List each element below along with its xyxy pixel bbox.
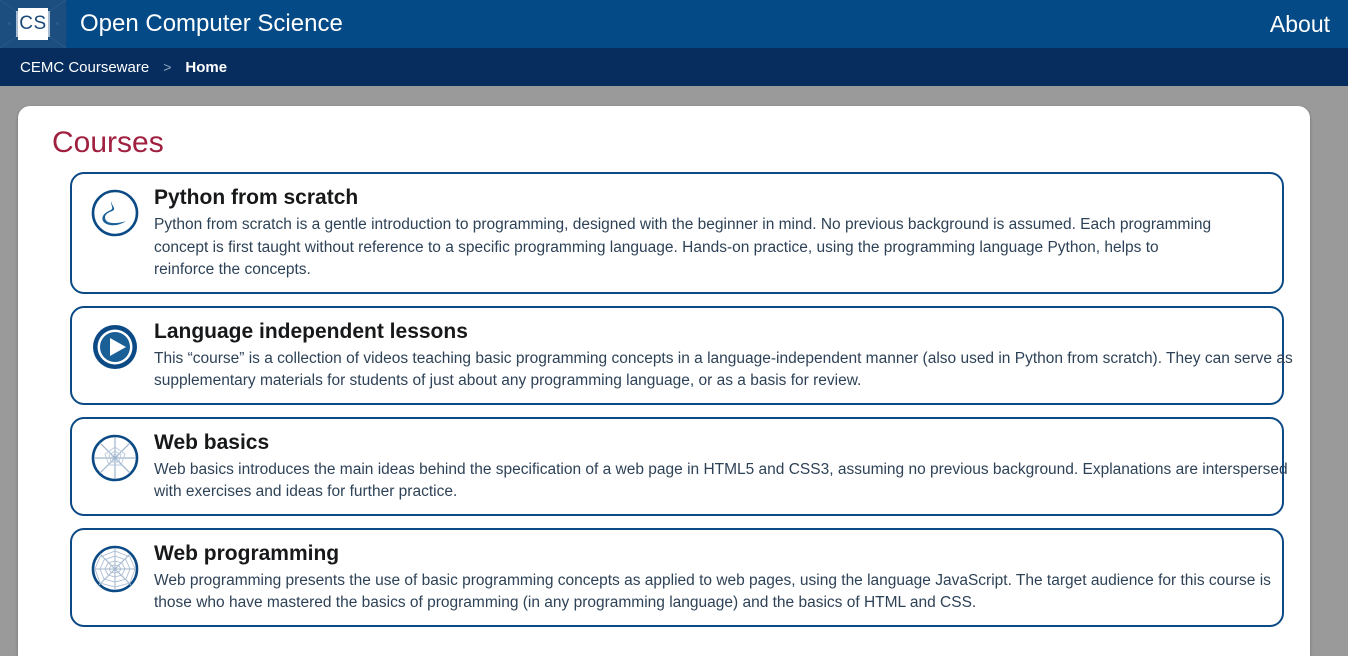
- top-navigation-bar: CS Open Computer Science About: [0, 0, 1348, 48]
- top-nav-links: About: [1270, 11, 1348, 38]
- breadcrumb-item-home: Home: [185, 59, 227, 76]
- spider-web-dense-icon: [90, 544, 140, 594]
- cs-monogram-logo[interactable]: CS: [0, 0, 66, 48]
- course-card-body: Web basics Web basics introduces the mai…: [154, 429, 1268, 504]
- course-description: Python from scratch is a gentle introduc…: [76, 214, 1216, 281]
- content-panel: Courses Python from scratch Python from …: [18, 106, 1310, 656]
- course-card-body: Python from scratch Python from scratch …: [154, 184, 1268, 282]
- course-title: Python from scratch: [154, 186, 1268, 210]
- logo-dot-right: [56, 22, 59, 25]
- course-card-python-from-scratch[interactable]: Python from scratch Python from scratch …: [70, 172, 1284, 294]
- page-background: Courses Python from scratch Python from …: [0, 86, 1348, 656]
- course-description: Web basics introduces the main ideas beh…: [154, 459, 1294, 504]
- breadcrumb: CEMC Courseware > Home: [0, 48, 1348, 86]
- course-title: Language independent lessons: [154, 320, 1268, 344]
- spider-web-icon: [90, 433, 140, 483]
- logo-plate: CS: [18, 8, 48, 40]
- breadcrumb-separator-icon: >: [163, 59, 171, 75]
- site-title: Open Computer Science: [80, 10, 343, 38]
- breadcrumb-item-cemc-courseware[interactable]: CEMC Courseware: [20, 59, 149, 76]
- logo-dot-left: [8, 22, 11, 25]
- course-card-web-basics[interactable]: Web basics Web basics introduces the mai…: [70, 417, 1284, 516]
- course-title: Web basics: [154, 431, 1268, 455]
- course-description: Web programming presents the use of basi…: [154, 570, 1294, 615]
- course-description: This “course” is a collection of videos …: [154, 348, 1294, 393]
- course-card-body: Web programming Web programming presents…: [154, 540, 1268, 615]
- course-title: Web programming: [154, 542, 1268, 566]
- logo-text: CS: [19, 13, 46, 35]
- course-card-body: Language independent lessons This “cours…: [154, 318, 1268, 393]
- page-title: Courses: [52, 126, 1290, 160]
- about-link[interactable]: About: [1270, 11, 1330, 37]
- play-button-icon: [90, 322, 140, 372]
- course-card-web-programming[interactable]: Web programming Web programming presents…: [70, 528, 1284, 627]
- course-card-language-independent-lessons[interactable]: Language independent lessons This “cours…: [70, 306, 1284, 405]
